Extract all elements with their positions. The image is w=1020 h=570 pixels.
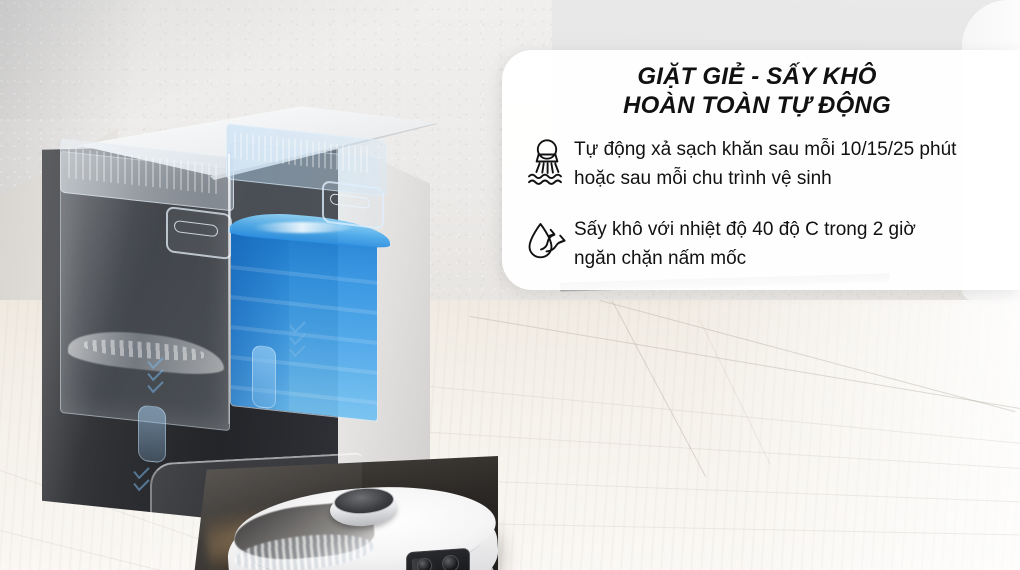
dock-station [38, 106, 438, 536]
feature-bullet-text: Tự động xả sạch khăn sau mỗi 10/15/25 ph… [574, 134, 956, 193]
shower-water-icon [520, 134, 574, 190]
bullet-1-line-2: hoặc sau mỗi chu trình vệ sinh [574, 164, 956, 193]
feature-bullet-item: Sấy khô với nhiệt độ 40 độ C trong 2 giờ… [520, 209, 1002, 275]
ceiling-shadow [0, 0, 420, 120]
feature-bullet-list: Tự động xả sạch khăn sau mỗi 10/15/25 ph… [502, 129, 1020, 275]
clean-water-outlet-pipe [252, 345, 276, 410]
screenshot-root: GIẶT GIẺ - SẤY KHÔ HOÀN TOÀN TỰ ĐỘNG [0, 0, 1020, 570]
clean-water-tank-handle [322, 180, 384, 230]
info-panel: GIẶT GIẺ - SẤY KHÔ HOÀN TOÀN TỰ ĐỘNG [502, 50, 1020, 290]
dirty-tank-inlet-tube [138, 405, 166, 464]
water-drop-dry-icon [520, 214, 574, 270]
panel-title: GIẶT GIẺ - SẤY KHÔ HOÀN TOÀN TỰ ĐỘNG [520, 62, 994, 120]
panel-title-line-1: GIẶT GIẺ - SẤY KHÔ [637, 63, 876, 90]
dirty-water-tank-handle [166, 206, 232, 260]
bullet-2-line-2: ngăn chặn nấm mốc [574, 244, 916, 273]
panel-title-line-2: HOÀN TOÀN TỰ ĐỘNG [623, 92, 891, 119]
feature-bullet-item: Tự động xả sạch khăn sau mỗi 10/15/25 ph… [520, 129, 1002, 195]
bullet-1-line-1: Tự động xả sạch khăn sau mỗi 10/15/25 ph… [574, 135, 956, 164]
tank-divider-wall [228, 154, 230, 424]
feature-bullet-text: Sấy khô với nhiệt độ 40 độ C trong 2 giờ… [574, 214, 916, 273]
bullet-2-line-1: Sấy khô với nhiệt độ 40 độ C trong 2 giờ [574, 215, 916, 244]
